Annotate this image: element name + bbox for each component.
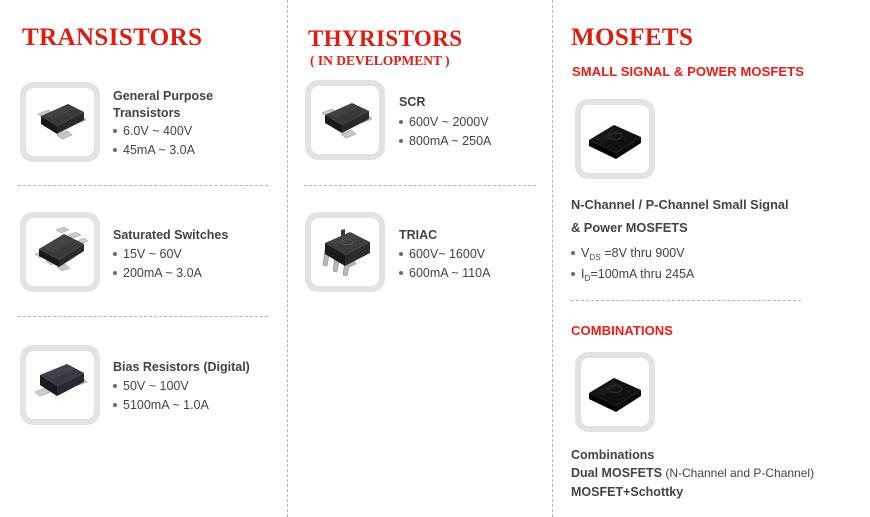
- vds-subscript: DS: [589, 253, 601, 262]
- bullet-dot-icon: [113, 252, 117, 256]
- combinations-line2-bold: Dual MOSFETS: [571, 466, 662, 480]
- to252-dpak-triac-package-icon: [305, 212, 385, 292]
- page-title-mosfets: MOSFETS: [571, 24, 693, 52]
- thyristors-development-note: ( IN DEVELOPMENT ): [310, 53, 450, 69]
- mosfets-subheading: SMALL SIGNAL & POWER MOSFETS: [572, 64, 804, 79]
- combinations-line2-light: (N-Channel and P-Channel): [662, 466, 814, 480]
- combinations-line1-text: Combinations: [571, 448, 654, 462]
- bullet-dot-icon: [113, 384, 117, 388]
- combinations-line3-text: MOSFET+Schottky: [571, 485, 683, 499]
- id-subscript: D: [584, 274, 590, 283]
- product-separator: [304, 185, 536, 186]
- dfn-mosfet-package-icon: [575, 99, 655, 179]
- product-separator: [18, 185, 268, 186]
- column-transistors: TRANSISTORS: [0, 0, 288, 517]
- bullet-dot-icon: [113, 129, 117, 133]
- product-title-line1: TRIAC: [399, 227, 437, 243]
- product-bullet: 5100mA ~ 1.0A: [113, 396, 209, 415]
- mosfet-heading-line1: N-Channel / P-Channel Small Signal: [571, 196, 789, 214]
- product-bullet: 50V ~ 100V: [113, 377, 189, 396]
- product-bullet: 200mA ~ 3.0A: [113, 264, 202, 283]
- bullet-dot-icon: [113, 148, 117, 152]
- product-title-line1: Bias Resistors (Digital): [113, 359, 250, 375]
- product-bullet: 600V~ 1600V: [399, 245, 485, 264]
- bullet-dot-icon: [571, 251, 575, 255]
- sot23-bias-resistor-package-icon: [20, 345, 100, 425]
- sot23-scr-package-icon: [305, 80, 385, 160]
- page-title-thyristors: THYRISTORS: [308, 26, 462, 52]
- product-title-line1: General Purpose: [113, 88, 213, 104]
- product-bullet: 15V ~ 60V: [113, 245, 182, 264]
- product-separator: [18, 316, 268, 317]
- combinations-heading: COMBINATIONS: [571, 323, 673, 338]
- mosfet-heading-line2: & Power MOSFETS: [571, 219, 688, 237]
- page-title-transistors: TRANSISTORS: [22, 24, 202, 52]
- dfn-combination-package-icon: [575, 352, 655, 432]
- bullet-dot-icon: [113, 403, 117, 407]
- product-bullet: 600V ~ 2000V: [399, 113, 489, 132]
- combinations-line1: Combinations: [571, 446, 654, 464]
- product-title-line1: SCR: [399, 94, 425, 110]
- bullet-dot-icon: [571, 272, 575, 276]
- combinations-line3: MOSFET+Schottky: [571, 483, 683, 501]
- product-bullet: 45mA ~ 3.0A: [113, 141, 195, 160]
- bullet-dot-icon: [399, 120, 403, 124]
- product-title-line1: Saturated Switches: [113, 227, 228, 243]
- bullet-dot-icon: [399, 271, 403, 275]
- bullet-dot-icon: [399, 252, 403, 256]
- product-bullet: 6.0V ~ 400V: [113, 122, 192, 141]
- product-bullet: 600mA ~ 110A: [399, 264, 490, 283]
- sot363-six-pin-package-icon: [20, 212, 100, 292]
- column-thyristors: THYRISTORS ( IN DEVELOPMENT ): [288, 0, 553, 517]
- product-bullet: 800mA ~ 250A: [399, 132, 491, 151]
- mosfet-bullet-vds: VDS =8V thru 900V: [571, 244, 685, 264]
- product-title-line2: Transistors: [113, 105, 180, 121]
- combinations-line2: Dual MOSFETS (N-Channel and P-Channel): [571, 464, 814, 482]
- product-overview-page: TRANSISTORS: [0, 0, 870, 517]
- sot23-transistor-package-icon: [20, 82, 100, 162]
- mosfet-bullet-id: ID=100mA thru 245A: [571, 265, 694, 285]
- bullet-dot-icon: [399, 139, 403, 143]
- mosfet-section-separator: [571, 300, 801, 301]
- column-mosfets: MOSFETS SMALL SIGNAL & POWER MOSFETS: [553, 0, 870, 517]
- bullet-dot-icon: [113, 271, 117, 275]
